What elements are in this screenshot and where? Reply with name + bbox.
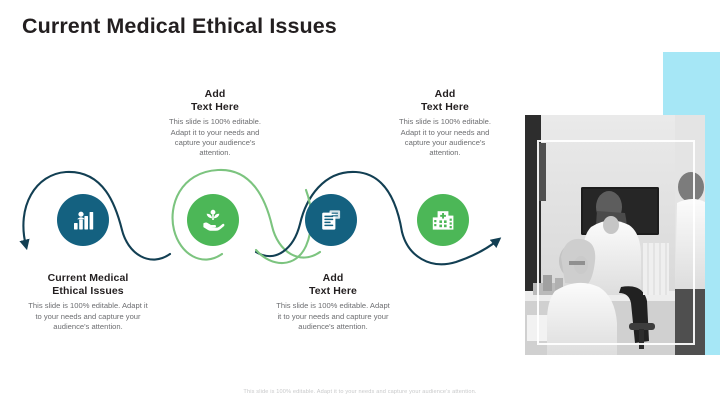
step-2-heading-line2: Text Here <box>160 101 270 114</box>
hand-holding-plant-icon <box>200 207 226 233</box>
page-title: Current Medical Ethical Issues <box>22 14 337 39</box>
step-node-4[interactable] <box>417 194 469 246</box>
step-1-heading-line1: Current Medical <box>28 272 148 285</box>
step-4-heading-line1: Add <box>390 88 500 101</box>
step-2-heading-line1: Add <box>160 88 270 101</box>
step-1-body: This slide is 100% editable. Adapt it to… <box>28 301 148 332</box>
text-block-step-4: Add Text Here This slide is 100% editabl… <box>390 88 500 159</box>
footer-note: This slide is 100% editable. Adapt it to… <box>0 389 720 395</box>
step-2-body: This slide is 100% editable. Adapt it to… <box>160 117 270 159</box>
step-4-body: This slide is 100% editable. Adapt it to… <box>390 117 500 159</box>
step-1-heading-line2: Ethical Issues <box>28 285 148 298</box>
photo-image <box>525 115 705 355</box>
slide-canvas: Current Medical Ethical Issues <box>0 0 720 404</box>
step-3-heading-line1: Add <box>275 272 391 285</box>
bar-chart-growth-icon <box>70 207 96 233</box>
text-block-step-2: Add Text Here This slide is 100% editabl… <box>160 88 270 159</box>
step-3-body: This slide is 100% editable. Adapt it to… <box>275 301 391 332</box>
step-4-heading-line2: Text Here <box>390 101 500 114</box>
step-node-2[interactable] <box>187 194 239 246</box>
hospital-building-icon <box>430 207 456 233</box>
step-3-heading-line2: Text Here <box>275 285 391 298</box>
text-block-step-3: Add Text Here This slide is 100% editabl… <box>275 272 391 332</box>
office-team-photo <box>525 115 705 355</box>
text-block-step-1: Current Medical Ethical Issues This slid… <box>28 272 148 332</box>
document-report-icon <box>318 207 344 233</box>
step-node-1[interactable] <box>57 194 109 246</box>
step-node-3[interactable] <box>305 194 357 246</box>
